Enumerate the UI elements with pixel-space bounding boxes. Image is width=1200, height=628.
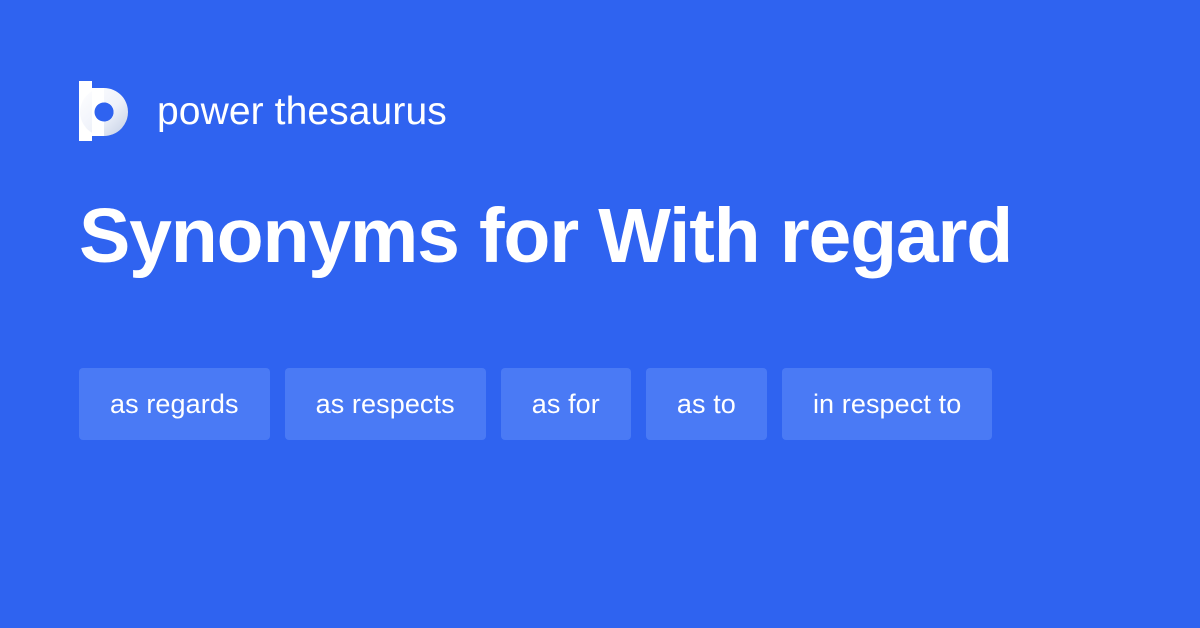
- brand-header[interactable]: power thesaurus: [79, 80, 447, 142]
- power-thesaurus-b-logo-icon: [79, 81, 131, 141]
- synonym-chip[interactable]: in respect to: [782, 368, 992, 440]
- synonym-chip-list: as regards as respects as for as to in r…: [79, 368, 1119, 440]
- synonym-chip[interactable]: as for: [501, 368, 631, 440]
- synonym-chip[interactable]: as respects: [285, 368, 486, 440]
- share-card: power thesaurus Synonyms for With regard…: [0, 0, 1200, 628]
- synonym-chip[interactable]: as to: [646, 368, 767, 440]
- page-title: Synonyms for With regard: [79, 196, 1139, 278]
- synonym-chip[interactable]: as regards: [79, 368, 270, 440]
- brand-name: power thesaurus: [157, 92, 447, 131]
